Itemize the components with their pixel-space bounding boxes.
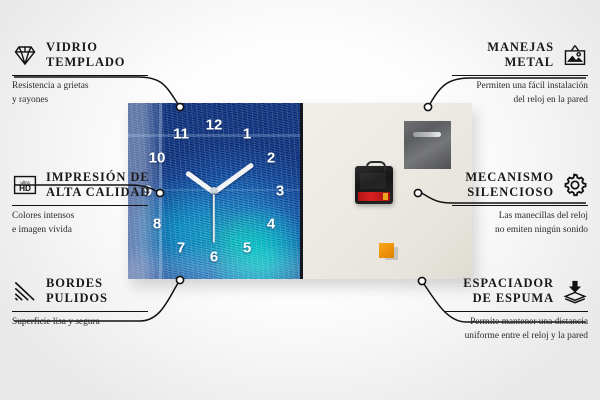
clock-mechanism bbox=[355, 166, 393, 204]
clock-numeral-4: 4 bbox=[267, 217, 275, 232]
callout-rule bbox=[444, 311, 588, 312]
clock-numeral-2: 2 bbox=[267, 151, 275, 166]
callout-description: Las manecillas del reloj no emiten ningú… bbox=[448, 210, 588, 237]
callout-rule bbox=[452, 205, 588, 206]
callout-title: MANEJAS METAL bbox=[487, 40, 554, 71]
callout-mecanismo-silencioso[interactable]: MECANISMO SILENCIOSO Las manecillas del … bbox=[448, 170, 588, 237]
callout-title: VIDRIO TEMPLADO bbox=[46, 40, 125, 71]
callout-rule bbox=[452, 75, 588, 76]
clock-numeral-12: 12 bbox=[206, 118, 223, 133]
callout-header: MECANISMO SILENCIOSO bbox=[448, 170, 588, 201]
gear-icon bbox=[562, 172, 588, 198]
callout-impresion-alta-calidad[interactable]: ultra HD IMPRESIÓN DE ALTA CALIDAD Color… bbox=[12, 170, 152, 237]
callout-description: Colores intensos e imagen vívida bbox=[12, 210, 152, 237]
clock-numeral-5: 5 bbox=[243, 241, 251, 256]
diamond-icon bbox=[12, 42, 38, 68]
mechanism-hook bbox=[366, 161, 386, 171]
callout-espaciador-espuma[interactable]: ESPACIADOR DE ESPUMA Permite mantener un… bbox=[440, 276, 588, 343]
svg-text:HD: HD bbox=[19, 184, 31, 193]
battery-terminal bbox=[383, 193, 388, 200]
battery bbox=[358, 192, 390, 201]
callout-rule bbox=[12, 311, 148, 312]
callout-description: Permiten una fácil instalación del reloj… bbox=[448, 80, 588, 107]
clock-numeral-6: 6 bbox=[210, 250, 218, 265]
mechanism-housing-detail bbox=[360, 173, 386, 189]
hanger-slot bbox=[413, 132, 441, 137]
callout-description: Permite mantener una distancia uniforme … bbox=[440, 316, 588, 343]
product-image: 12 1 2 3 4 5 6 7 8 9 10 11 bbox=[128, 103, 472, 281]
infographic-canvas: 12 1 2 3 4 5 6 7 8 9 10 11 bbox=[0, 0, 600, 400]
clock-numeral-3: 3 bbox=[276, 184, 284, 199]
clock-numeral-10: 10 bbox=[149, 151, 166, 166]
clock-center-cap bbox=[211, 187, 217, 193]
callout-header: ultra HD IMPRESIÓN DE ALTA CALIDAD bbox=[12, 170, 152, 201]
callout-vidrio-templado[interactable]: VIDRIO TEMPLADO Resistencia a grietas y … bbox=[12, 40, 152, 107]
callout-description: Resistencia a grietas y rayones bbox=[12, 80, 152, 107]
clock-front-panel: 12 1 2 3 4 5 6 7 8 9 10 11 bbox=[128, 103, 303, 279]
callout-title: ESPACIADOR DE ESPUMA bbox=[463, 276, 554, 307]
callout-rule bbox=[12, 205, 148, 206]
clock-face-grid-line-vertical bbox=[159, 103, 162, 279]
clock-face-grid-line-horizontal bbox=[128, 134, 300, 137]
ultra-hd-icon: ultra HD bbox=[12, 172, 38, 198]
clock-numeral-1: 1 bbox=[243, 127, 251, 142]
foam-spacer-arrow-icon bbox=[562, 278, 588, 304]
clock-numeral-7: 7 bbox=[177, 241, 185, 256]
callout-manejas-metal[interactable]: MANEJAS METAL Permiten una fácil instala… bbox=[448, 40, 588, 107]
metal-hanger-plate bbox=[404, 121, 451, 169]
clock-numeral-8: 8 bbox=[153, 217, 161, 232]
clock-numeral-11: 11 bbox=[173, 127, 189, 142]
picture-frame-hanging-icon bbox=[562, 42, 588, 68]
callout-title: BORDES PULIDOS bbox=[46, 276, 108, 307]
callout-header: BORDES PULIDOS bbox=[12, 276, 152, 307]
callout-header: ESPACIADOR DE ESPUMA bbox=[440, 276, 588, 307]
callout-title: MECANISMO SILENCIOSO bbox=[465, 170, 554, 201]
callout-rule bbox=[12, 75, 148, 76]
callout-description: Superficie lisa y segura bbox=[12, 316, 152, 330]
callout-header: VIDRIO TEMPLADO bbox=[12, 40, 152, 71]
polished-edges-icon bbox=[12, 278, 38, 304]
callout-header: MANEJAS METAL bbox=[448, 40, 588, 71]
callout-bordes-pulidos[interactable]: BORDES PULIDOS Superficie lisa y segura bbox=[12, 276, 152, 330]
callout-title: IMPRESIÓN DE ALTA CALIDAD bbox=[46, 170, 150, 201]
clock-second-hand bbox=[213, 191, 215, 243]
foam-spacer bbox=[379, 243, 394, 258]
clock-back-panel bbox=[303, 103, 472, 279]
